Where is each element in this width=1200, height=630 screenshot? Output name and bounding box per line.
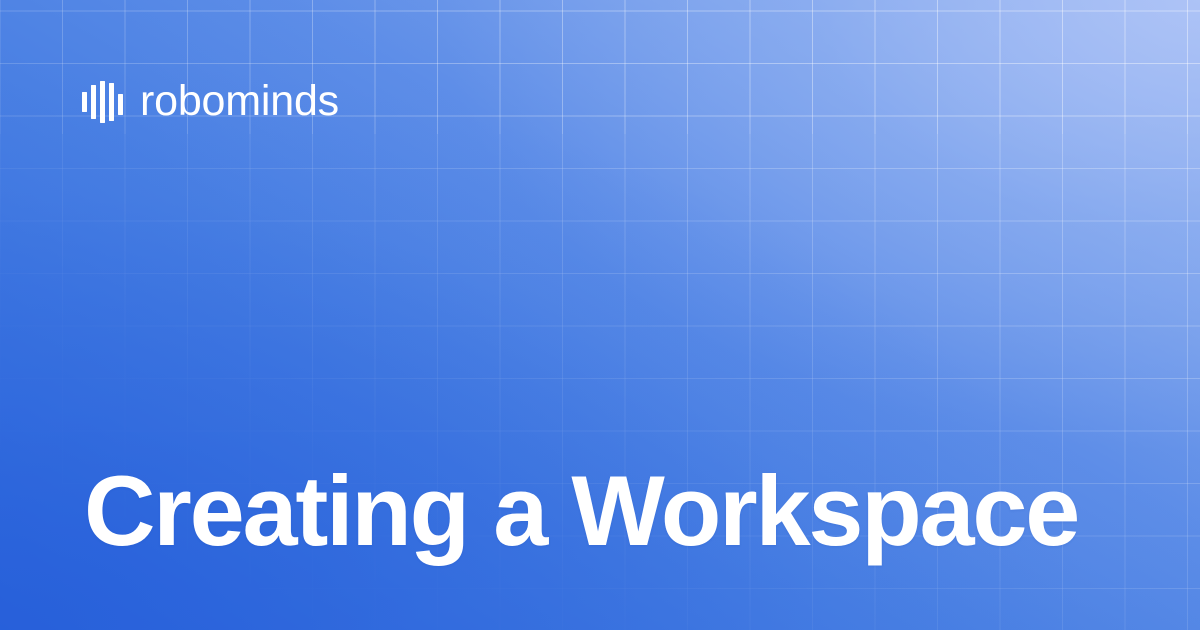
- page-title: Creating a Workspace: [84, 459, 1116, 564]
- card-content: robominds Creating a Workspace: [0, 0, 1200, 630]
- social-share-card: robominds Creating a Workspace: [0, 0, 1200, 630]
- waveform-bars-icon: [79, 81, 126, 123]
- brand-lockup[interactable]: robominds: [79, 80, 339, 123]
- brand-name: robominds: [140, 80, 339, 123]
